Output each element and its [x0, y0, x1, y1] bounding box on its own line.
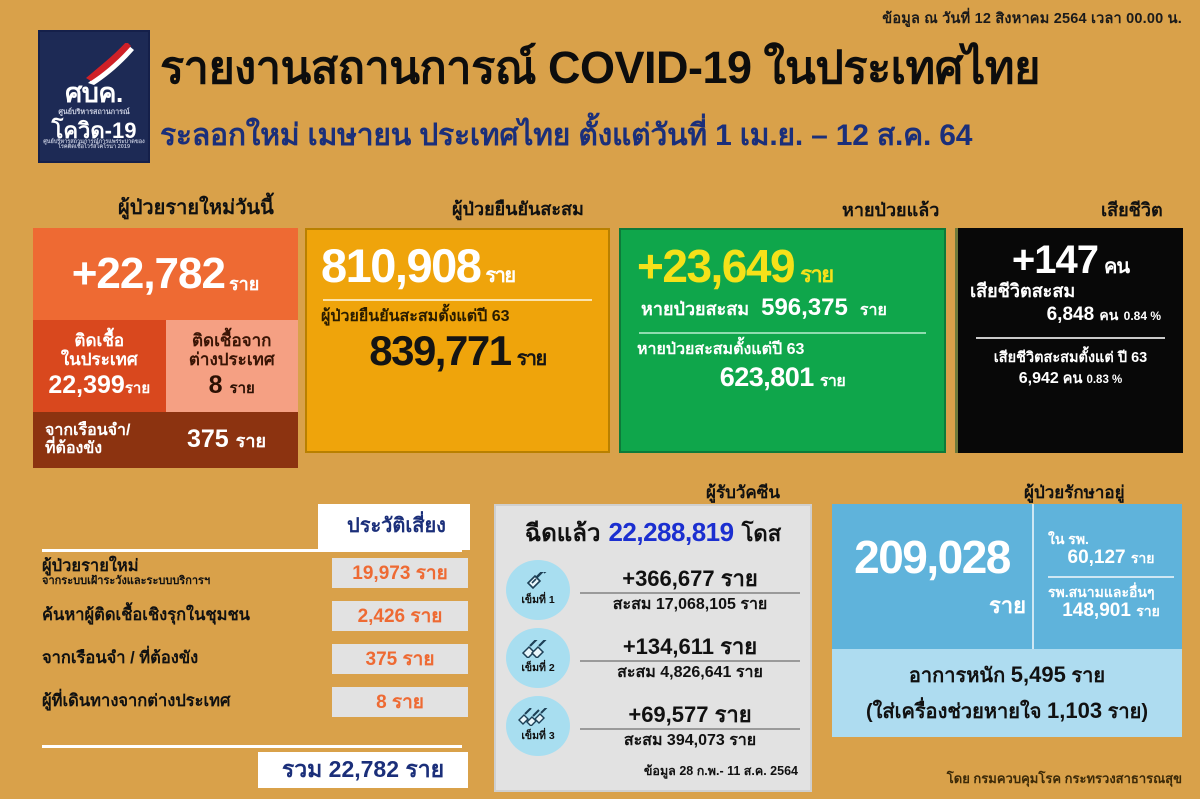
deaths-cum-value: 6,848 — [1047, 304, 1095, 325]
syringe-icon-2 — [521, 640, 555, 658]
risk-row-value: 375 ราย — [332, 644, 468, 674]
risk-row-value: 8 ราย — [332, 687, 468, 717]
vaccine-dose-badge-1: เข็มที่ 1 — [506, 560, 570, 620]
caption-risk-history: ประวัติเสี่ยง — [347, 516, 446, 536]
domestic-label-line1: ติดเชื้อ — [74, 331, 124, 350]
divider — [580, 660, 800, 662]
deaths-since-percent: 0.83 % — [1086, 374, 1122, 386]
cumulative-since-unit: ราย — [517, 348, 546, 370]
domestic-value: 22,399 — [48, 371, 124, 399]
list-item: ค้นหาผู้ติดเชื้อเชิงรุกในชุมชน 2,426 ราย — [42, 599, 468, 633]
vaccine-footnote: ข้อมูล 28 ก.พ.- 11 ส.ค. 2564 — [506, 761, 800, 781]
page-title: รายงานสถานการณ์ COVID-19 ในประเทศไทย — [160, 44, 1040, 91]
recovered-cum-unit: ราย — [860, 298, 887, 323]
severe-value: 5,495 — [1011, 662, 1066, 687]
caption-vaccinated: ผู้รับวัคซีน — [706, 484, 780, 501]
risk-row-label: ผู้ป่วยรายใหม่ — [42, 558, 332, 575]
deaths-card: +147คน เสียชีวิตสะสม 6,848 คน 0.84 % เสี… — [955, 228, 1183, 453]
vaccine-head-unit: โดส — [742, 516, 782, 551]
vaccine-dose-new-2: +134,611 ราย — [580, 635, 800, 659]
risk-history-list: ผู้ป่วยรายใหม่ จากระบบเฝ้าระวังและระบบบร… — [42, 556, 468, 728]
hospital-label: ใน รพ. — [1048, 531, 1174, 547]
vaccine-dose-row: เข็มที่ 2 +134,611 ราย สะสม 4,826,641 รา… — [506, 628, 800, 688]
logo-footline: ศูนย์บริหารสถานการณ์การแพร่ระบาดของโรคติ… — [40, 140, 148, 151]
logo-acronym: ศบค. — [40, 80, 148, 107]
vaccine-dose-cum-1: สะสม 17,068,105 ราย — [580, 596, 800, 614]
field-hospital-label: รพ.สนามและอื่นๆ — [1048, 584, 1174, 600]
prison-cases-cell: จากเรือนจำ/ ที่ต้องขัง 375 ราย — [33, 412, 298, 468]
recovered-card: +23,649ราย หายป่วยสะสม 596,375 ราย หายป่… — [619, 228, 946, 453]
cumulative-unit: ราย — [485, 265, 514, 287]
ventilator-label: (ใส่เครื่องช่วยหายใจ — [866, 701, 1042, 723]
caption-cumulative: ผู้ป่วยยืนยันสะสม — [452, 200, 584, 218]
imported-unit: ราย — [230, 380, 255, 397]
hospital-unit: ราย — [1131, 550, 1155, 566]
recovered-today-unit: ราย — [800, 262, 833, 287]
imported-label-line2: ต่างประเทศ — [189, 350, 275, 369]
divider — [323, 299, 592, 301]
recovered-since-unit: ราย — [820, 373, 845, 390]
deaths-since-value: 6,942 — [1019, 370, 1059, 387]
caption-new-cases: ผู้ป่วยรายใหม่วันนี้ — [118, 198, 274, 218]
new-cases-breakdown: ติดเชื้อ ในประเทศ 22,399ราย ติดเชื้อจาก … — [33, 320, 298, 412]
data-timestamp: ข้อมูล ณ วันที่ 12 สิงหาคม 2564 เวลา 00.… — [882, 7, 1182, 30]
cumulative-value: 810,908 — [321, 239, 480, 292]
list-item: ผู้ป่วยรายใหม่ จากระบบเฝ้าระวังและระบบบร… — [42, 556, 468, 590]
new-cases-total-unit: ราย — [229, 269, 259, 298]
severe-unit: ราย — [1071, 665, 1105, 687]
deaths-today-value: +147 — [1012, 238, 1098, 282]
vaccine-dose-badge-label-2: เข็มที่ 2 — [521, 659, 554, 676]
vaccine-head-value: 22,288,819 — [608, 517, 733, 548]
vaccine-dose-cum-2: สะสม 4,826,641 ราย — [580, 664, 800, 682]
deaths-since-label: เสียชีวิตสะสมตั้งแต่ ปี 63 — [994, 350, 1147, 366]
risk-row-label: ค้นหาผู้ติดเชื้อเชิงรุกในชุมชน — [42, 607, 332, 624]
domestic-unit: ราย — [125, 380, 150, 397]
vaccine-dose-badge-3: เข็มที่ 3 — [506, 696, 570, 756]
in-treatment-total: 209,028 — [854, 534, 1010, 580]
hospital-value: 60,127 — [1068, 547, 1126, 568]
field-hospital-unit: ราย — [1136, 603, 1160, 619]
recovered-cum-value: 596,375 — [761, 294, 848, 322]
logo-subline: ศูนย์บริหารสถานการณ์ — [40, 108, 148, 115]
risk-row-value: 19,973 ราย — [332, 558, 468, 588]
in-treatment-panel: 209,028 ราย ใน รพ. 60,127 ราย รพ.สนามและ… — [832, 504, 1182, 749]
ventilator-unit: ราย) — [1108, 701, 1148, 723]
cumulative-since-value: 839,771 — [369, 327, 510, 374]
syringe-icon-1 — [523, 572, 553, 590]
domestic-label-line2: ในประเทศ — [61, 350, 138, 369]
vaccine-dose-cum-3: สะสม 394,073 ราย — [580, 732, 800, 750]
page-subtitle: ระลอกใหม่ เมษายน ประเทศไทย ตั้งแต่วันที่… — [160, 120, 972, 152]
list-item: จากเรือนจำ / ที่ต้องขัง 375 ราย — [42, 642, 468, 676]
vaccine-dose-new-3: +69,577 ราย — [580, 703, 800, 727]
field-hospital-value: 148,901 — [1062, 600, 1131, 621]
domestic-cases-cell: ติดเชื้อ ในประเทศ 22,399ราย — [33, 320, 166, 412]
vaccine-dose-new-1: +366,677 ราย — [580, 567, 800, 591]
deaths-cum-unit: คน — [1099, 307, 1118, 323]
imported-value: 8 — [209, 371, 223, 399]
recovered-today-value: +23,649 — [637, 240, 794, 292]
list-item: ผู้ที่เดินทางจากต่างประเทศ 8 ราย — [42, 685, 468, 719]
syringe-icon-3 — [518, 708, 558, 726]
prison-label-line1: จากเรือนจำ/ — [45, 422, 130, 439]
new-cases-card: +22,782 ราย ติดเชื้อ ในประเทศ 22,399ราย … — [33, 228, 298, 468]
recovered-cum-label: หายป่วยสะสม — [641, 294, 749, 323]
imported-label-line1: ติดเชื้อจาก — [192, 331, 271, 350]
severe-cases-block: อาการหนัก 5,495 ราย (ใส่เครื่องช่วยหายใจ… — [832, 649, 1182, 737]
divider — [580, 592, 800, 594]
vaccine-dose-badge-label-3: เข็มที่ 3 — [521, 727, 554, 744]
risk-divider-top — [42, 549, 462, 552]
cumulative-cases-card: 810,908ราย ผู้ป่วยยืนยันสะสมตั้งแต่ปี 63… — [305, 228, 610, 453]
risk-row-sublabel: จากระบบเฝ้าระวังและระบบบริการฯ — [42, 576, 332, 588]
divider — [1048, 576, 1174, 578]
ventilator-value: 1,103 — [1047, 698, 1102, 723]
risk-row-label: จากเรือนจำ / ที่ต้องขัง — [42, 650, 332, 667]
deaths-cum-percent: 0.84 % — [1124, 309, 1161, 323]
vaccine-dose-row: เข็มที่ 1 +366,677 ราย สะสม 17,068,105 ร… — [506, 560, 800, 620]
prison-label-line2: ที่ต้องขัง — [45, 440, 102, 457]
prison-unit: ราย — [236, 431, 266, 451]
new-cases-total-value: +22,782 — [72, 249, 225, 299]
in-treatment-total-unit: ราย — [989, 588, 1032, 623]
ccsa-logo: ศบค. ศูนย์บริหารสถานการณ์ โควิด-19 ศูนย์… — [38, 30, 150, 163]
vaccine-panel: ฉีดแล้ว 22,288,819 โดส เข็มที่ 1 +366,67… — [494, 504, 812, 792]
credit-line: โดย กรมควบคุมโรค กระทรวงสาธารณสุข — [947, 768, 1182, 789]
risk-row-label: ผู้ที่เดินทางจากต่างประเทศ — [42, 693, 332, 710]
divider — [580, 728, 800, 730]
deaths-since-unit: คน — [1063, 371, 1083, 387]
severe-label: อาการหนัก — [909, 665, 1005, 687]
risk-divider-bottom — [42, 745, 462, 748]
cumulative-since-label: ผู้ป่วยยืนยันสะสมตั้งแต่ปี 63 — [321, 309, 594, 325]
caption-deaths: เสียชีวิต — [1101, 201, 1163, 219]
prison-value: 375 — [187, 425, 229, 453]
vaccine-dose-row: เข็มที่ 3 +69,577 ราย สะสม 394,073 ราย — [506, 696, 800, 756]
risk-history-total: รวม 22,782 ราย — [258, 752, 468, 788]
new-cases-total-block: +22,782 ราย — [33, 228, 298, 320]
vaccine-head-label: ฉีดแล้ว — [525, 513, 601, 552]
divider — [639, 332, 926, 334]
vaccine-dose-badge-2: เข็มที่ 2 — [506, 628, 570, 688]
recovered-since-label: หายป่วยสะสมตั้งแต่ปี 63 — [637, 342, 928, 358]
recovered-since-value: 623,801 — [720, 362, 814, 392]
divider — [976, 337, 1165, 339]
vaccine-dose-badge-label-1: เข็มที่ 1 — [521, 591, 554, 608]
caption-recovered: หายป่วยแล้ว — [842, 201, 939, 219]
deaths-cum-label: เสียชีวิตสะสม — [970, 282, 1171, 302]
deaths-today-unit: คน — [1104, 256, 1129, 278]
risk-row-value: 2,426 ราย — [332, 601, 468, 631]
caption-in-treatment: ผู้ป่วยรักษาอยู่ — [1024, 484, 1125, 501]
imported-cases-cell: ติดเชื้อจาก ต่างประเทศ 8 ราย — [166, 320, 299, 412]
